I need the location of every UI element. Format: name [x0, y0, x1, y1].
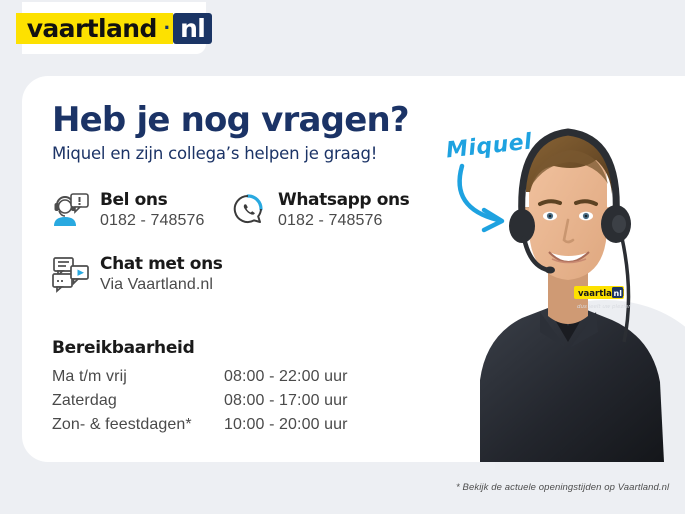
logo-lockup: vaartland · nl: [16, 13, 213, 44]
availability-time: 10:00 - 20:00 uur: [224, 413, 348, 437]
table-row: Zaterdag 08:00 - 17:00 uur: [52, 389, 382, 413]
page-subtitle: Miquel en zijn collega’s helpen je graag…: [52, 144, 377, 163]
availability-table: Ma t/m vrij 08:00 - 22:00 uur Zaterdag 0…: [52, 365, 382, 437]
page-title: Heb je nog vragen?: [52, 100, 409, 140]
contact-banner: vaartland · nl: [0, 0, 685, 514]
availability-time: 08:00 - 17:00 uur: [224, 389, 348, 413]
contact-chat[interactable]: Chat met ons Via Vaartland.nl: [50, 252, 222, 296]
availability-day: Zon- & feestdagen*: [52, 413, 224, 437]
table-row: Zon- & feestdagen* 10:00 - 20:00 uur: [52, 413, 382, 437]
footnote: * Bekijk de actuele openingstijden op Va…: [456, 482, 669, 493]
svg-text:nl: nl: [614, 289, 623, 298]
logo-tld: nl: [173, 13, 212, 44]
availability-day: Ma t/m vrij: [52, 365, 224, 389]
availability-title: Bereikbaarheid: [52, 338, 194, 358]
contact-whatsapp-text: Whatsapp ons 0182 - 748576: [278, 188, 409, 232]
whatsapp-icon: [228, 188, 270, 230]
contact-call[interactable]: Bel ons 0182 - 748576: [50, 188, 205, 232]
logo-separator-dot: ·: [164, 13, 173, 44]
contact-whatsapp[interactable]: Whatsapp ons 0182 - 748576: [228, 188, 409, 232]
contact-whatsapp-title: Whatsapp ons: [278, 190, 409, 210]
contact-whatsapp-number[interactable]: 0182 - 748576: [278, 210, 409, 232]
svg-text:dus jeelt uw plezier: dus jeelt uw plezier: [577, 304, 631, 310]
contact-chat-text: Chat met ons Via Vaartland.nl: [100, 252, 222, 296]
contact-call-title: Bel ons: [100, 190, 205, 210]
contact-chat-title: Chat met ons: [100, 254, 222, 274]
table-row: Ma t/m vrij 08:00 - 22:00 uur: [52, 365, 382, 389]
chat-bubbles-icon: [50, 252, 92, 294]
headset-person-icon: [50, 188, 92, 230]
contact-chat-subtitle[interactable]: Via Vaartland.nl: [100, 274, 222, 296]
brand-logo[interactable]: vaartland · nl: [22, 2, 206, 54]
contact-call-number[interactable]: 0182 - 748576: [100, 210, 205, 232]
logo-wordmark: vaartland: [16, 13, 164, 44]
availability-day: Zaterdag: [52, 389, 224, 413]
contact-call-text: Bel ons 0182 - 748576: [100, 188, 205, 232]
availability-time: 08:00 - 22:00 uur: [224, 365, 348, 389]
curved-arrow-icon: [440, 160, 550, 240]
